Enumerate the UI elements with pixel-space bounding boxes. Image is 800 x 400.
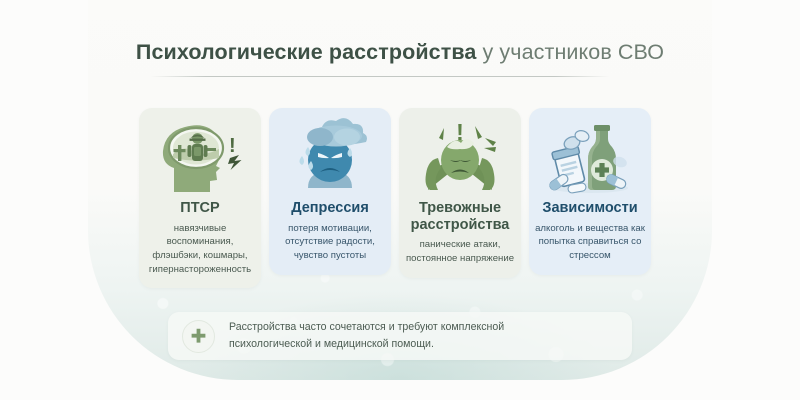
medical-cross-icon [182, 320, 215, 353]
header: Психологические расстройства у участнико… [0, 40, 800, 65]
stressed-person-head-icon: ! [414, 118, 506, 196]
page-title-rest: у участников СВО [476, 40, 664, 64]
disorder-card-anxiety[interactable]: ! Тревожные расстройства панические атак… [399, 108, 521, 278]
card-title: Зависимости [542, 200, 637, 217]
page-title-strong: Психологические расстройства [136, 40, 477, 64]
card-description: алкоголь и вещества как попытка справить… [535, 222, 645, 263]
summary-note: Расстройства часто сочетаются и требуют … [168, 312, 632, 360]
card-title: ПТСР [180, 200, 219, 217]
infographic-slide: Психологические расстройства у участнико… [0, 0, 800, 400]
card-description: потеря мотивации, отсутствие радости, чу… [275, 222, 385, 263]
svg-text:!: ! [229, 135, 236, 157]
disorder-card-list: ! ПТСР навязчивые воспоминания, флэшбэки… [139, 108, 664, 288]
card-title: Тревожные расстройства [405, 200, 515, 233]
page-title: Психологические расстройства у участнико… [0, 40, 800, 65]
sad-face-raincloud-icon [284, 118, 376, 196]
summary-note-line-1: Расстройства часто сочетаются и требуют … [229, 319, 504, 336]
disorder-card-addiction[interactable]: Зависимости алкоголь и вещества как попы… [529, 108, 651, 275]
title-divider [150, 76, 610, 77]
cross-glyph [190, 328, 207, 345]
bottle-pills-icon [544, 118, 636, 196]
summary-note-text: Расстройства часто сочетаются и требуют … [229, 319, 504, 353]
card-title: Депрессия [291, 200, 369, 217]
disorder-card-ptsr[interactable]: ! ПТСР навязчивые воспоминания, флэшбэки… [139, 108, 261, 288]
disorder-card-depression[interactable]: Депрессия потеря мотивации, отсутствие р… [269, 108, 391, 275]
summary-note-line-2: психологической и медицинской помощи. [229, 336, 504, 353]
card-description: навязчивые воспоминания, флэшбэки, кошма… [145, 222, 255, 276]
head-soldier-flashback-icon: ! [154, 118, 246, 196]
svg-text:!: ! [456, 119, 464, 145]
card-description: панические атаки, постоянное напряжение [405, 238, 515, 265]
